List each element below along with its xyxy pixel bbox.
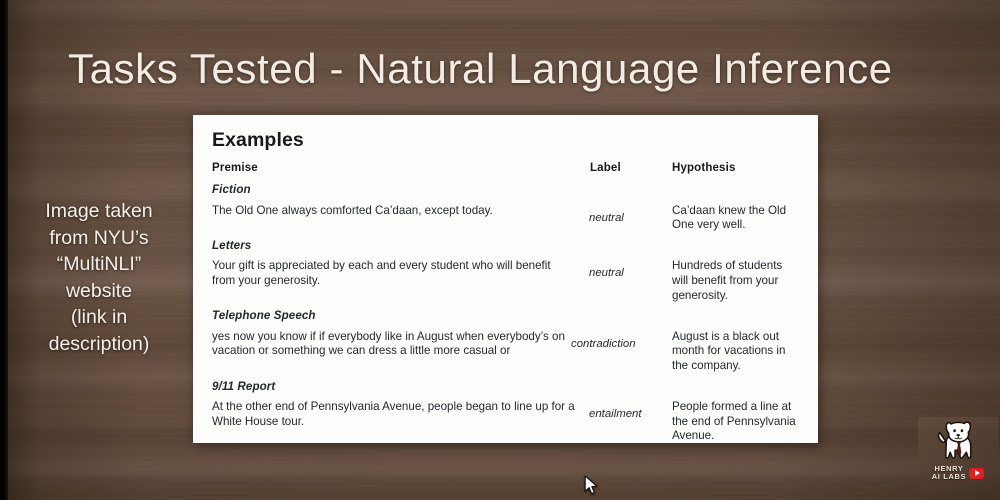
column-header-hypothesis: Hypothesis <box>669 162 800 177</box>
genre-row: 9/11 Report <box>212 374 800 395</box>
logo-name-line2: AI LABS <box>932 473 966 481</box>
label-text: entailment <box>589 394 669 443</box>
caption-line: “MultiNLI” <box>20 251 178 278</box>
label-text: neutral <box>589 198 669 233</box>
caption-line: Image taken <box>20 198 178 225</box>
column-header-label: Label <box>589 162 669 177</box>
premise-text: The Old One always comforted Ca’daan, ex… <box>212 198 589 233</box>
genre-label: Telephone Speech <box>212 303 800 324</box>
premise-text: yes now you know if if everybody like in… <box>212 324 589 374</box>
genre-label: Fiction <box>212 177 800 198</box>
mouse-pointer-icon <box>584 475 598 495</box>
dog-icon <box>933 420 983 464</box>
genre-row: Letters <box>212 233 800 254</box>
genre-label: Letters <box>212 233 800 254</box>
examples-card: Examples Premise Label Hypothesis Fictio… <box>193 115 818 443</box>
caption-line: (link in <box>20 304 178 331</box>
table-row: yes now you know if if everybody like in… <box>212 324 800 374</box>
table-header-row: Premise Label Hypothesis <box>212 162 800 177</box>
table-row: Your gift is appreciated by each and eve… <box>212 253 800 303</box>
label-text: contradiction <box>589 324 669 374</box>
table-row: The Old One always comforted Ca’daan, ex… <box>212 198 800 233</box>
hypothesis-text: Ca’daan knew the Old One very well. <box>669 198 800 233</box>
premise-text: At the other end of Pennsylvania Avenue,… <box>212 394 589 443</box>
necktie-icon <box>957 442 961 455</box>
youtube-play-icon <box>969 468 984 479</box>
genre-row: Telephone Speech <box>212 303 800 324</box>
examples-table: Premise Label Hypothesis Fiction The Old… <box>212 162 800 443</box>
hypothesis-text: August is a black out month for vacation… <box>669 324 800 374</box>
channel-logo-watermark: HENRY AI LABS <box>918 417 998 491</box>
caption-line: description) <box>20 331 178 358</box>
caption-line: website <box>20 278 178 305</box>
hypothesis-text: People formed a line at the end of Penns… <box>669 394 800 443</box>
card-heading: Examples <box>212 129 800 152</box>
genre-label: 9/11 Report <box>212 374 800 395</box>
hypothesis-text: Hundreds of students will benefit from y… <box>669 253 800 303</box>
caption-line: from NYU’s <box>20 225 178 252</box>
table-row: At the other end of Pennsylvania Avenue,… <box>212 394 800 443</box>
source-caption: Image taken from NYU’s “MultiNLI” websit… <box>20 198 178 357</box>
left-edge-bar <box>0 0 8 500</box>
slide-canvas: Tasks Tested - Natural Language Inferenc… <box>0 0 1000 500</box>
column-header-premise: Premise <box>212 162 589 177</box>
genre-row: Fiction <box>212 177 800 198</box>
premise-text: Your gift is appreciated by each and eve… <box>212 253 589 303</box>
label-text: neutral <box>589 253 669 303</box>
page-title: Tasks Tested - Natural Language Inferenc… <box>68 42 958 96</box>
